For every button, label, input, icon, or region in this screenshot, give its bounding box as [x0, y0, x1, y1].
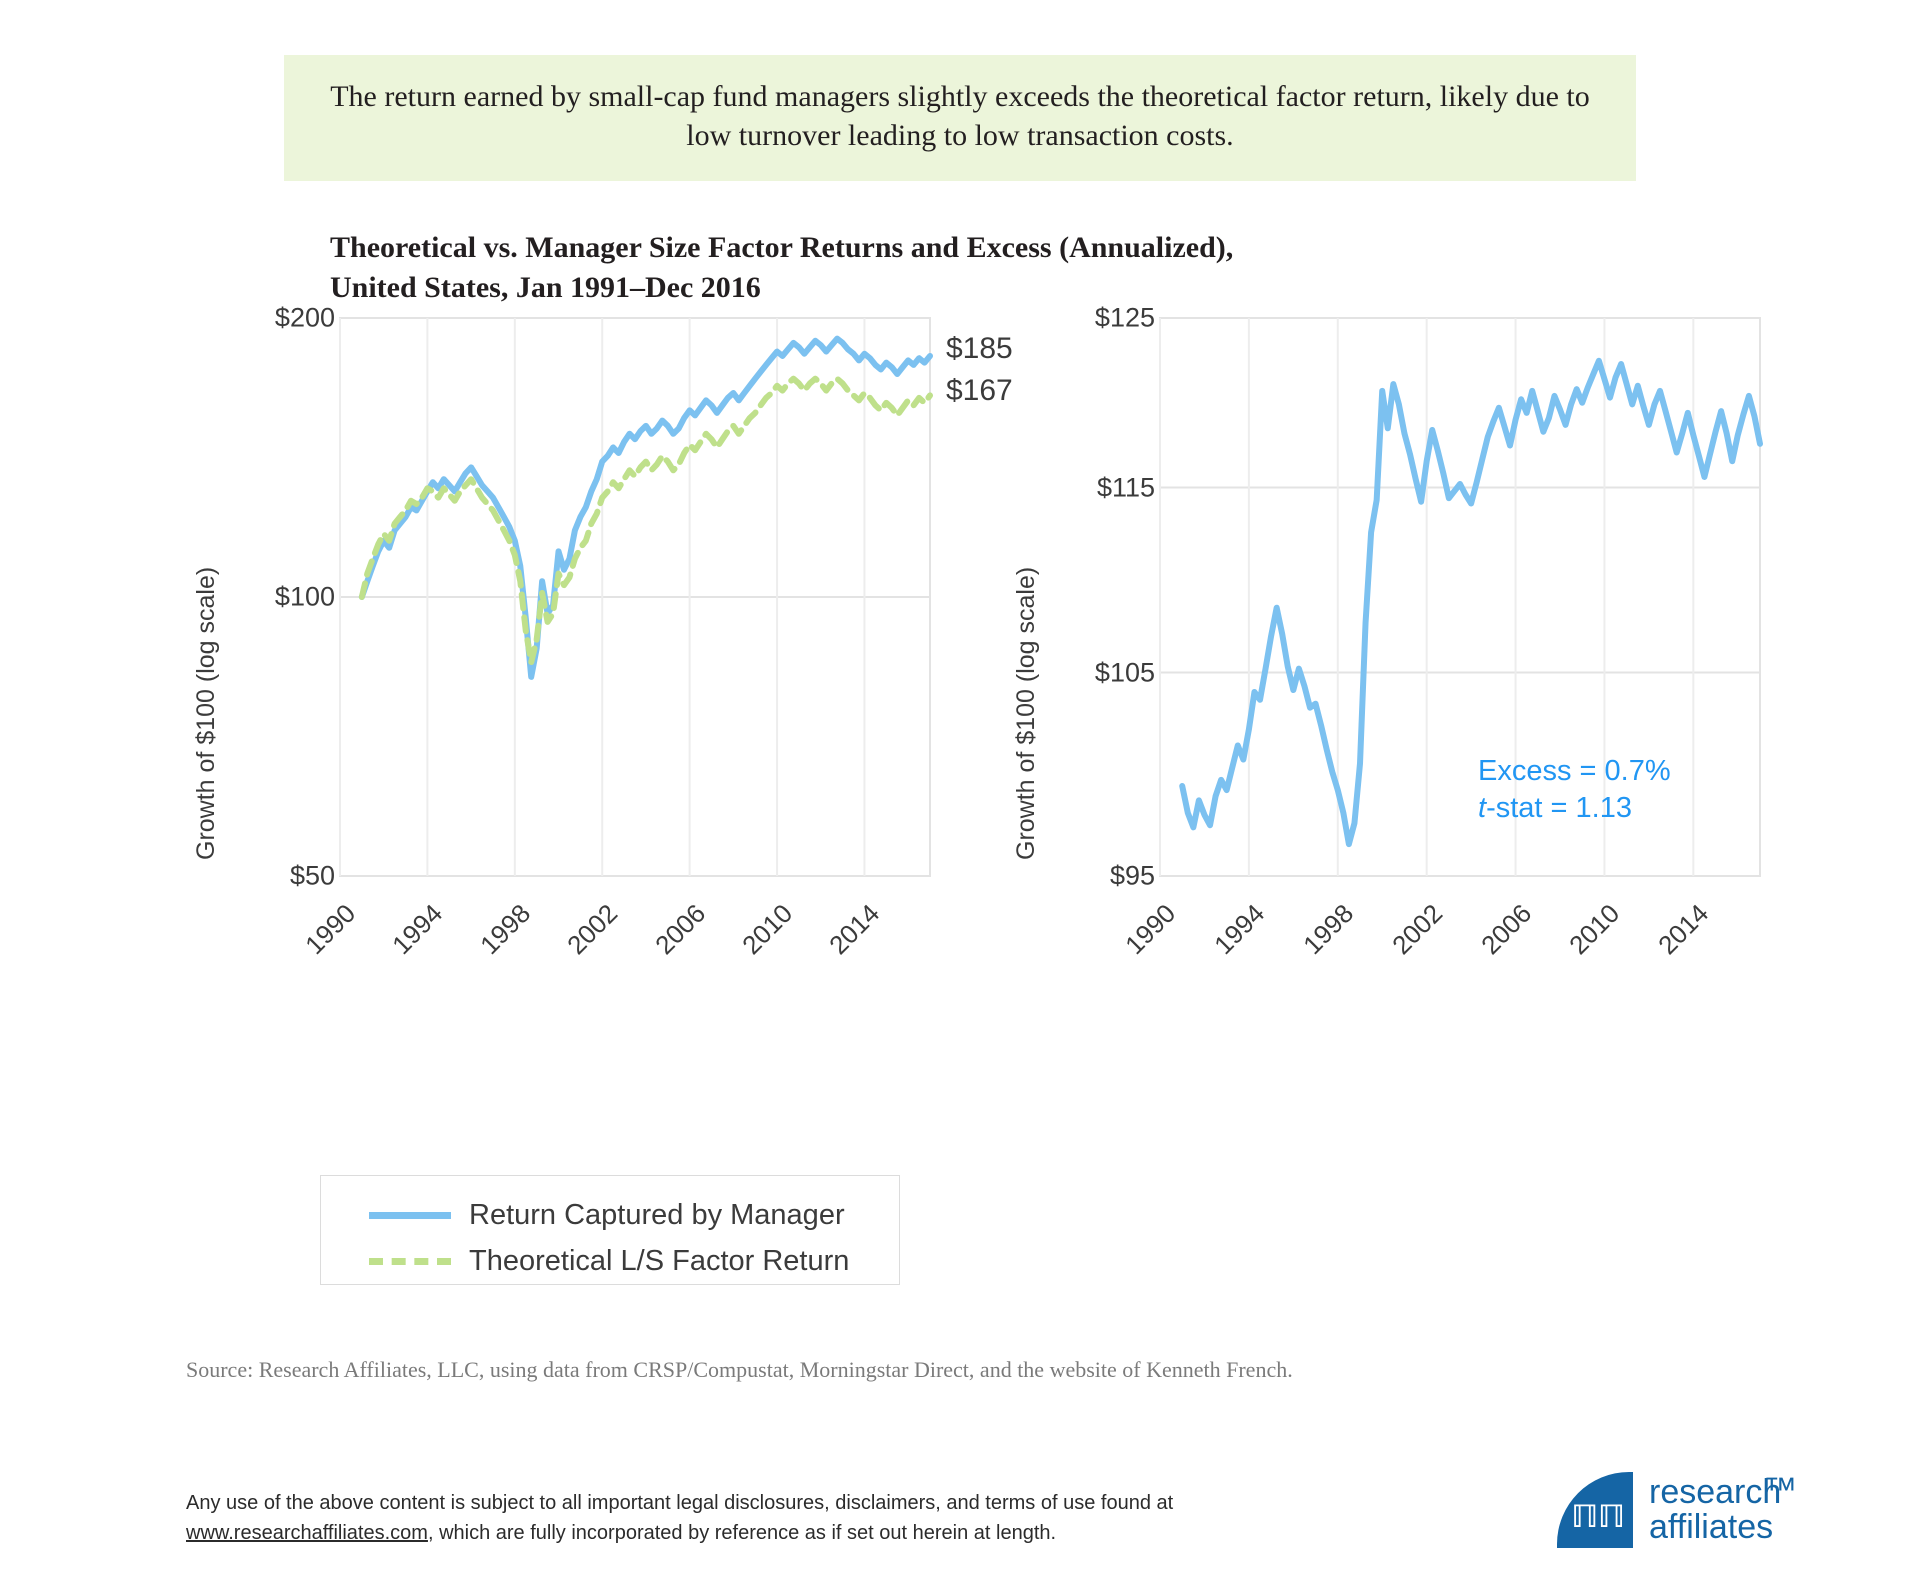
legend-swatch-dashed-icon: [369, 1258, 451, 1265]
legend-swatch-solid-icon: [369, 1212, 451, 1219]
legend-label-manager: Return Captured by Manager: [469, 1199, 845, 1232]
legend-item-theoretical: Theoretical L/S Factor Return: [321, 1238, 899, 1284]
logo-glyph-icon: ℿℿ: [1557, 1472, 1633, 1548]
legend-label-theoretical: Theoretical L/S Factor Return: [469, 1245, 849, 1278]
excess-stats: Excess = 0.7%t-stat = 1.13: [1478, 753, 1671, 827]
chart-title: Theoretical vs. Manager Size Factor Retu…: [330, 228, 1630, 308]
annotation-line: Excess = 0.7%: [1478, 753, 1671, 790]
chart-legend: Return Captured by Manager Theoretical L…: [320, 1175, 900, 1285]
disclaimer-line1: Any use of the above content is subject …: [186, 1492, 1173, 1514]
source-note: Source: Research Affiliates, LLC, using …: [186, 1357, 1293, 1383]
logo-line1: research: [1649, 1475, 1781, 1510]
disclaimer-line2: , which are fully incorporated by refere…: [428, 1522, 1056, 1544]
annotation-line: t-stat = 1.13: [1478, 790, 1671, 827]
chart-title-line1: Theoretical vs. Manager Size Factor Retu…: [330, 228, 1630, 268]
logo-mark-icon: ℿℿ: [1557, 1472, 1633, 1548]
logo-wordmark: research affiliates ™: [1649, 1475, 1781, 1544]
growth-chart-panel: Growth of $100 (log scale) $200$100$50 1…: [150, 300, 990, 1060]
logo-line2: affiliates: [1649, 1510, 1781, 1545]
legend-item-manager: Return Captured by Manager: [321, 1192, 899, 1238]
logo-trademark: ™: [1763, 1473, 1797, 1508]
research-affiliates-link[interactable]: www.researchaffiliates.com: [186, 1522, 428, 1544]
callout-text: The return earned by small-cap fund mana…: [324, 77, 1596, 155]
excess-chart-panel: Growth of $100 (log scale) $125$115$105$…: [990, 300, 1790, 1060]
research-affiliates-logo: ℿℿ research affiliates ™: [1557, 1472, 1781, 1548]
disclaimer-text: Any use of the above content is subject …: [186, 1488, 1336, 1548]
callout-banner: The return earned by small-cap fund mana…: [284, 55, 1636, 181]
